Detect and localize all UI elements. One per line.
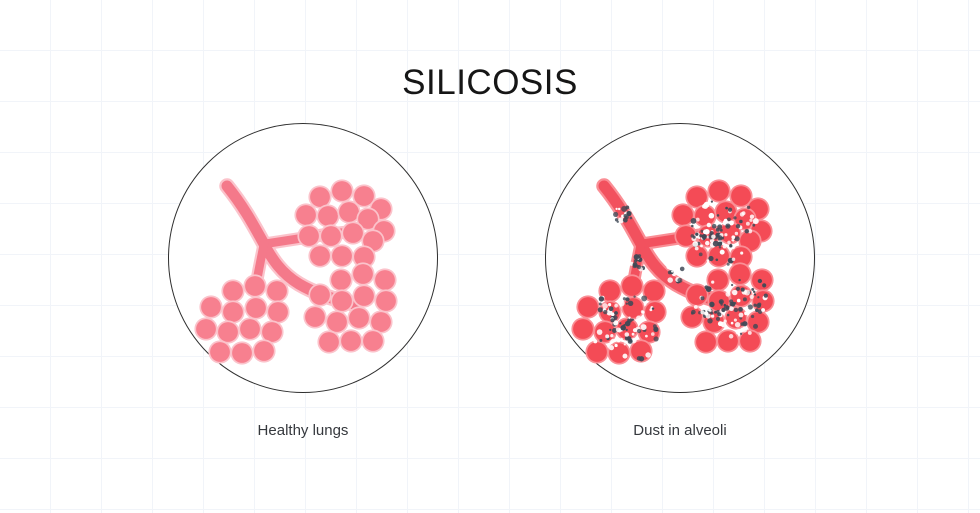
caption-dust-in-alveoli: Dust in alveoli	[545, 421, 815, 441]
page-title: SILICOSIS	[0, 62, 980, 104]
alveoli-cluster-upper	[294, 179, 395, 268]
alveoli-cluster-lower-left	[194, 274, 289, 364]
alveoli-cluster-lower-right	[303, 262, 397, 353]
alveoli-cluster-lower-left	[571, 274, 666, 364]
healthy-lungs-illustration	[168, 123, 438, 393]
panel-dust-in-alveoli	[545, 123, 815, 393]
dust-in-alveoli-illustration	[545, 123, 815, 393]
caption-healthy-lungs: Healthy lungs	[168, 421, 438, 441]
diagram-canvas: SILICOSIS	[0, 0, 980, 513]
panel-healthy-lungs	[168, 123, 438, 393]
alveoli-cluster-upper	[671, 179, 772, 268]
